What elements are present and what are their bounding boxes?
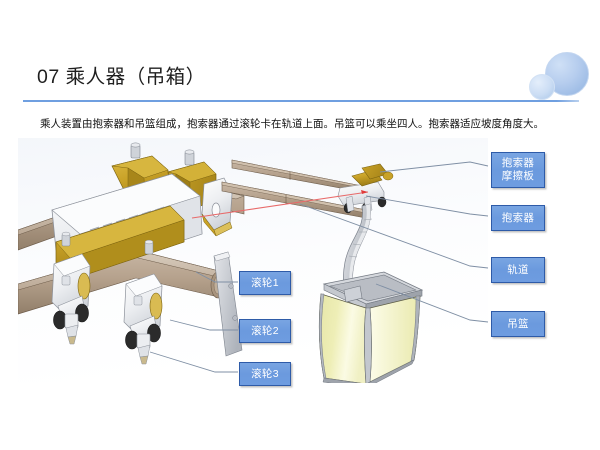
callout-friction-plate-line2: 摩擦板 <box>502 170 534 184</box>
callout-roller-2-label: 滚轮2 <box>251 325 279 338</box>
callout-friction-plate-line1: 抱索器 <box>502 157 534 171</box>
callout-roller-3[interactable]: 滚轮3 <box>239 362 291 386</box>
title-divider <box>23 100 579 102</box>
callout-cabin-label: 吊篮 <box>507 318 529 331</box>
callout-friction-plate[interactable]: 抱索器 摩擦板 <box>491 152 545 188</box>
decorative-circle-small-icon <box>529 74 555 100</box>
callout-rail-label: 轨道 <box>507 264 529 277</box>
cabin-group <box>319 272 422 383</box>
callout-rail[interactable]: 轨道 <box>491 257 545 283</box>
callout-roller-1-label: 滚轮1 <box>251 277 279 290</box>
callout-roller-2[interactable]: 滚轮2 <box>239 319 291 343</box>
body-paragraph: 乘人装置由抱索器和吊篮组成，抱索器通过滚轮卡在轨道上面。吊篮可以乘坐四人。抱索器… <box>40 117 565 132</box>
callout-roller-3-label: 滚轮3 <box>251 368 279 381</box>
illustration-stage <box>18 138 488 383</box>
page-title: 07 乘人器（吊箱） <box>37 60 206 89</box>
decorative-circle-large-icon <box>545 52 589 96</box>
slide-canvas: 07 乘人器（吊箱） 乘人装置由抱索器和吊篮组成，抱索器通过滚轮卡在轨道上面。吊… <box>0 0 600 450</box>
callout-grip[interactable]: 抱索器 <box>491 205 545 231</box>
callout-roller-1[interactable]: 滚轮1 <box>239 271 291 295</box>
callout-cabin[interactable]: 吊篮 <box>491 311 545 337</box>
callout-grip-label: 抱索器 <box>502 212 534 225</box>
